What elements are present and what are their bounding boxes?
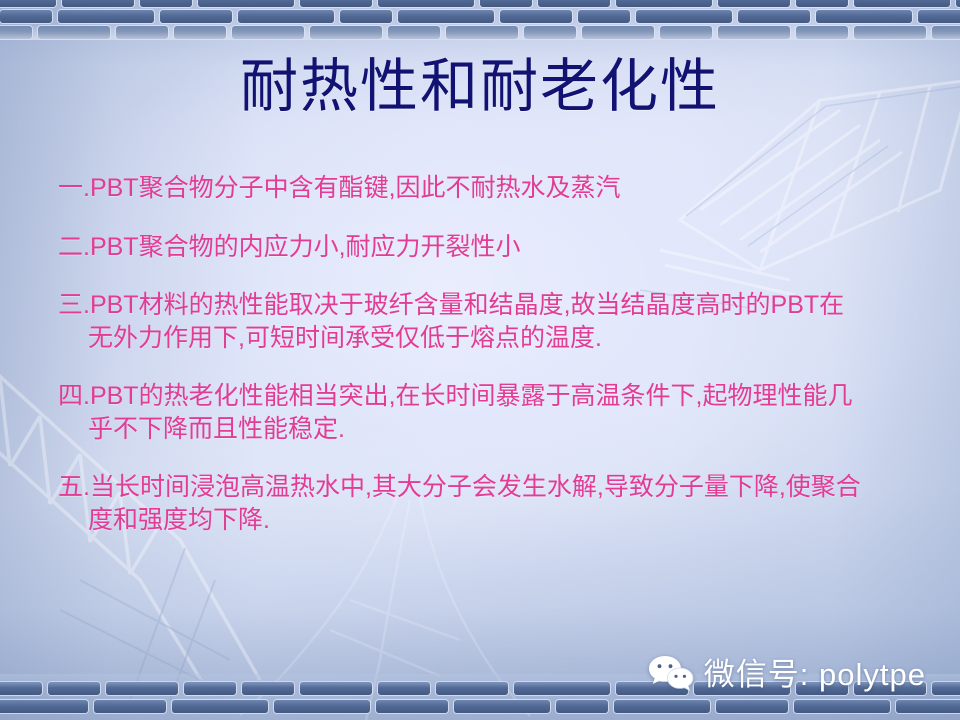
list-item-line1: 四.PBT的热老化性能相当突出,在长时间暴露于高温条件下,起物理性能几 — [58, 382, 852, 410]
list-item-line1: 五.当长时间浸泡高温热水中,其大分子会发生水解,导致分子量下降,使聚合 — [58, 473, 861, 501]
list-item-line2: 度和强度均下降. — [58, 504, 920, 537]
list-item: 五.当长时间浸泡高温热水中,其大分子会发生水解,导致分子量下降,使聚合 度和强度… — [58, 471, 920, 536]
wechat-watermark: 微信号: polytpe — [648, 654, 926, 694]
list-item-line1: 三.PBT材料的热性能取决于玻纤含量和结晶度,故当结晶度高时的PBT在 — [58, 291, 844, 319]
list-item: 二.PBT聚合物的内应力小,耐应力开裂性小 — [58, 231, 920, 264]
watermark-text: 微信号: polytpe — [704, 659, 926, 690]
list-item-line2: 无外力作用下,可短时间承受仅低于熔点的温度. — [58, 322, 920, 355]
list-item: 三.PBT材料的热性能取决于玻纤含量和结晶度,故当结晶度高时的PBT在 无外力作… — [58, 289, 920, 354]
slide-title: 耐热性和耐老化性 — [0, 56, 960, 119]
slide-body: 一.PBT聚合物分子中含有酯键,因此不耐热水及蒸汽 二.PBT聚合物的内应力小,… — [58, 172, 920, 562]
slide-canvas: 耐热性和耐老化性 一.PBT聚合物分子中含有酯键,因此不耐热水及蒸汽 二.PBT… — [0, 0, 960, 720]
list-item-line1: 一.PBT聚合物分子中含有酯键,因此不耐热水及蒸汽 — [58, 174, 621, 202]
list-item: 四.PBT的热老化性能相当突出,在长时间暴露于高温条件下,起物理性能几 乎不下降… — [58, 380, 920, 445]
list-item-line1: 二.PBT聚合物的内应力小,耐应力开裂性小 — [58, 233, 521, 261]
wechat-icon — [648, 654, 694, 694]
list-item: 一.PBT聚合物分子中含有酯键,因此不耐热水及蒸汽 — [58, 172, 920, 205]
list-item-line2: 乎不下降而且性能稳定. — [58, 413, 920, 446]
